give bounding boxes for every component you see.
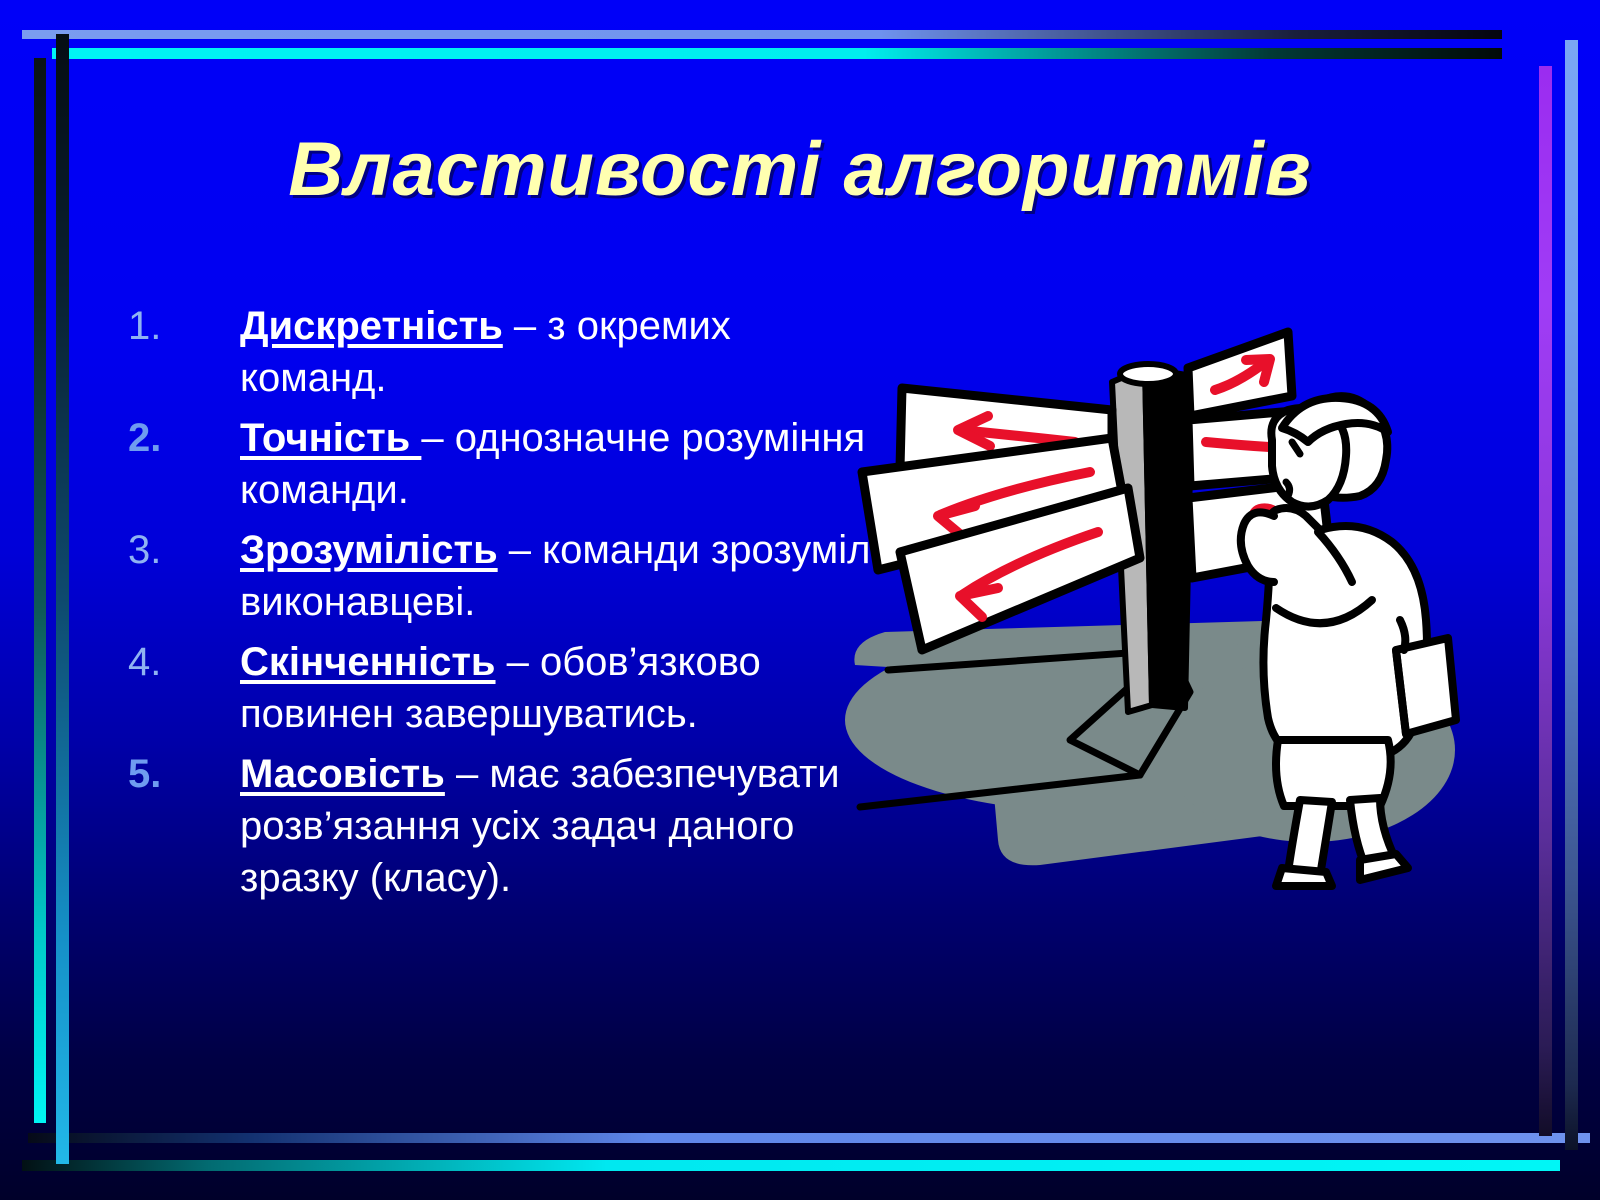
- slide: Властивості алгоритмів 1.Дискретність – …: [0, 0, 1600, 1200]
- list-item-number: 1.: [128, 300, 198, 352]
- signpost-illustration: ?: [840, 320, 1490, 890]
- list-item-number: 2.: [128, 412, 198, 464]
- list-item: 5.Масовість – має забезпечувати розв’яза…: [120, 748, 880, 904]
- list-item: 1.Дискретність – з окремих команд.: [120, 300, 880, 404]
- slide-title: Властивості алгоритмів: [0, 126, 1600, 213]
- bottom-cyan-rule: [22, 1160, 1560, 1171]
- list-item: 3.Зрозумілість – команди зрозумілі викон…: [120, 524, 880, 628]
- list-item-number: 4.: [128, 636, 198, 688]
- properties-list: 1.Дискретність – з окремих команд. 2.Точ…: [120, 300, 880, 912]
- list-item-term: Скінченність: [240, 640, 496, 684]
- bottom-lightblue-rule: [28, 1133, 1590, 1143]
- list-item-term: Дискретність: [240, 304, 503, 348]
- top-cyan-rule: [52, 48, 1502, 59]
- list-item-term: Масовість: [240, 752, 445, 796]
- top-lightblue-rule: [22, 30, 1502, 39]
- list-item-number: 3.: [128, 524, 198, 576]
- list-item: 4.Скінченність – обов’язково повинен зав…: [120, 636, 880, 740]
- list-item-number: 5.: [128, 748, 198, 800]
- list-item-term: Зрозумілість: [240, 528, 498, 572]
- list-item-term: Точність: [240, 416, 421, 460]
- sign-right-1: [1188, 332, 1292, 416]
- list-item: 2.Точність – однозначне розуміння команд…: [120, 412, 880, 516]
- left-inner-rule: [34, 58, 46, 1123]
- right-purple-rule: [1539, 66, 1552, 1136]
